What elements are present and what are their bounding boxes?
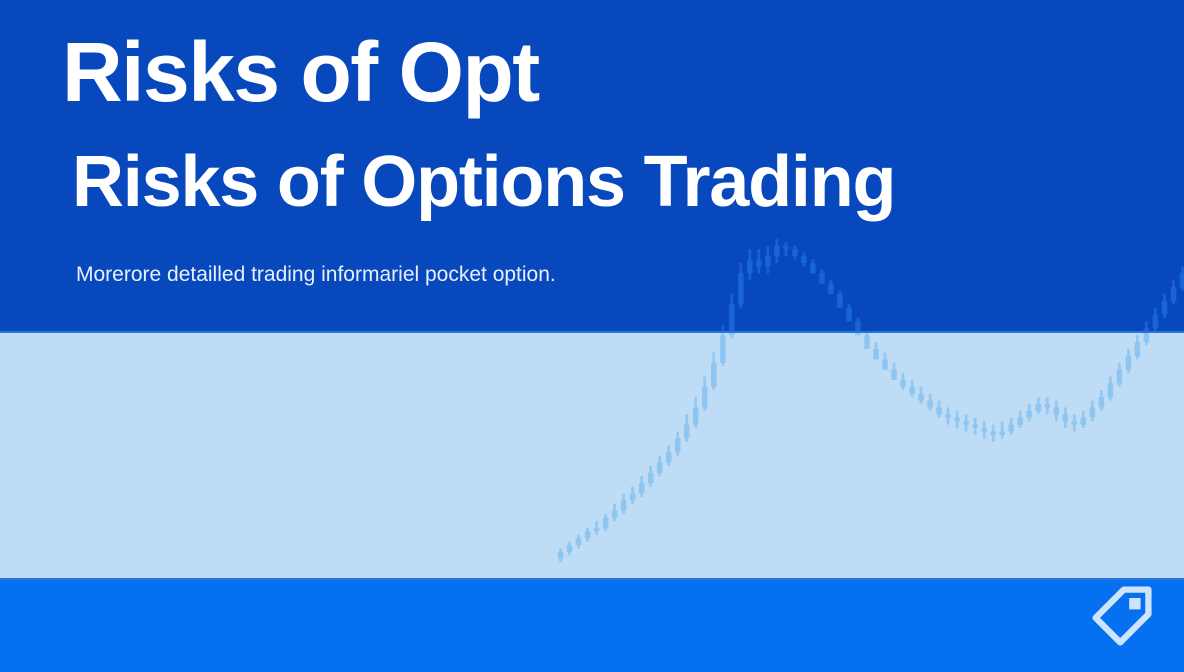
content-band — [0, 331, 1184, 580]
page-title-primary: Risks of Opt — [62, 30, 539, 114]
footer-band — [0, 578, 1184, 672]
tag-icon — [1086, 580, 1158, 652]
poster-canvas: Risks of Opt Risks of Options Trading Mo… — [0, 0, 1184, 672]
page-subtitle: Morerore detailled trading informariel p… — [76, 262, 556, 287]
page-title-secondary: Risks of Options Trading — [72, 146, 895, 218]
